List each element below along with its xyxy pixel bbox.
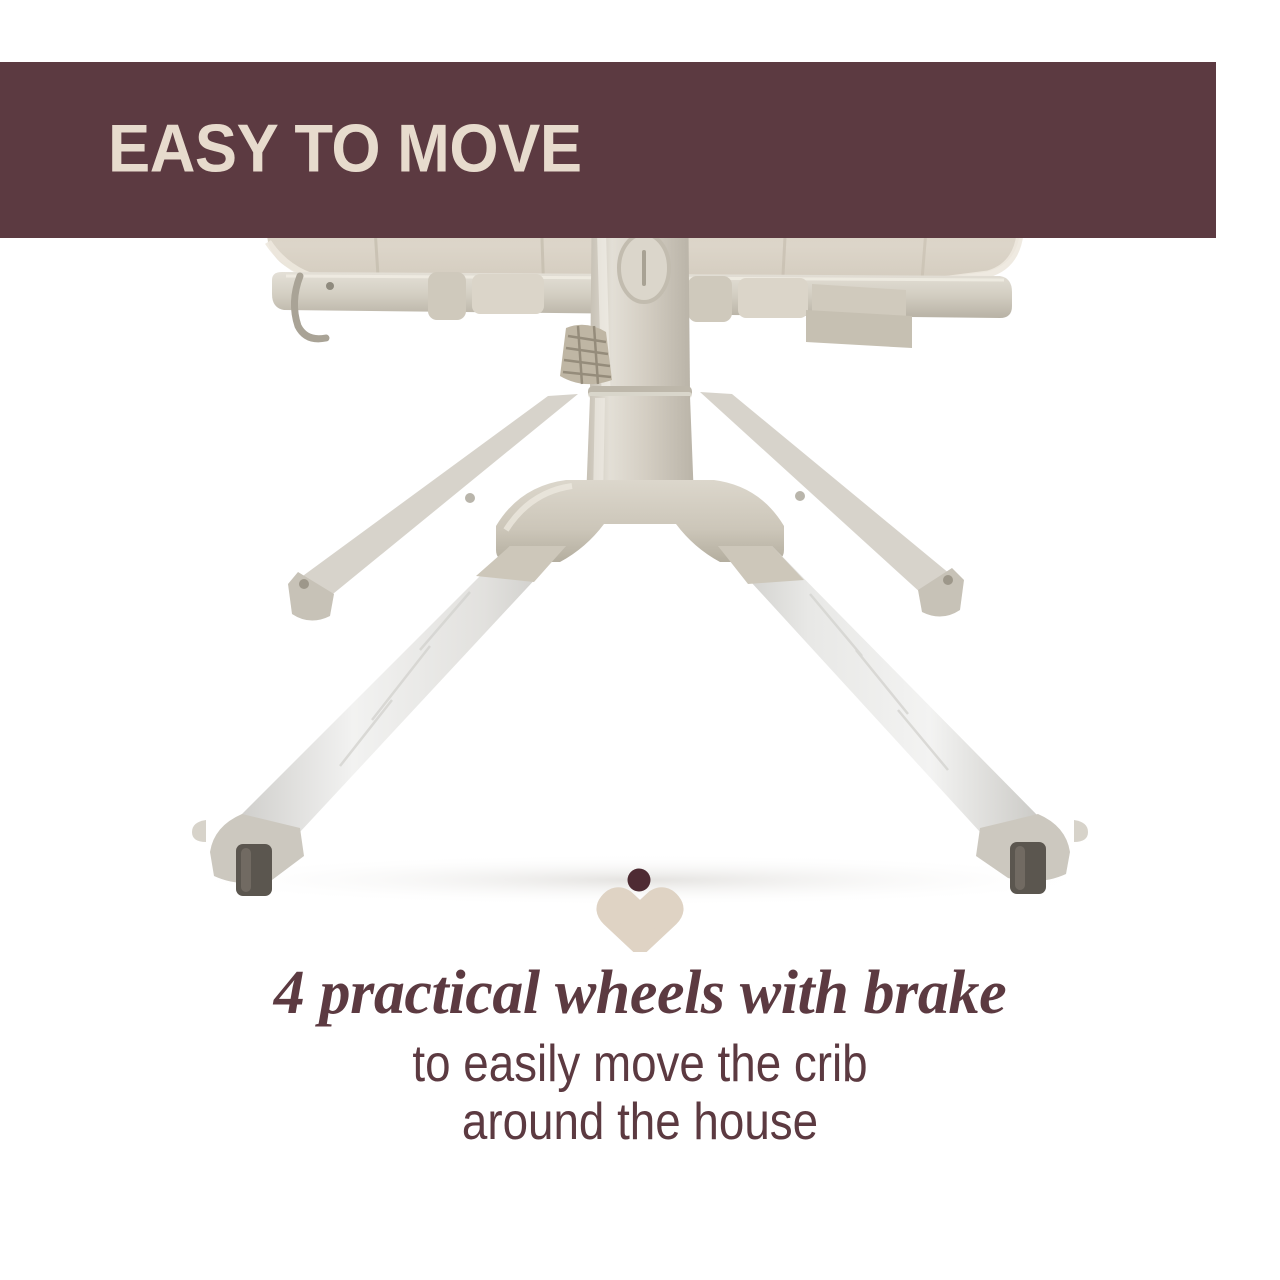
- product-photo: [0, 180, 1280, 910]
- caption-subtext: to easily move the crib around the house: [0, 1035, 1280, 1151]
- header-banner: EASY TO MOVE: [0, 62, 1216, 238]
- icon-dot: [628, 869, 651, 892]
- caption-headline: 4 practical wheels with brake: [0, 962, 1280, 1025]
- page-title-text: EASY TO MOVE: [108, 115, 582, 183]
- icon-heart: [602, 893, 677, 950]
- crib-illustration: [0, 180, 1280, 910]
- page-title: EASY TO MOVE: [108, 115, 617, 183]
- slide-canvas: EASY TO MOVE 4 practical wheels with bra…: [0, 0, 1280, 1280]
- caption-subtext-line-2: around the house: [77, 1093, 1203, 1151]
- caption-subtext-line-1: to easily move the crib: [77, 1035, 1203, 1093]
- heart-with-dot-icon: [596, 862, 684, 952]
- caption-block: 4 practical wheels with brake to easily …: [0, 962, 1280, 1152]
